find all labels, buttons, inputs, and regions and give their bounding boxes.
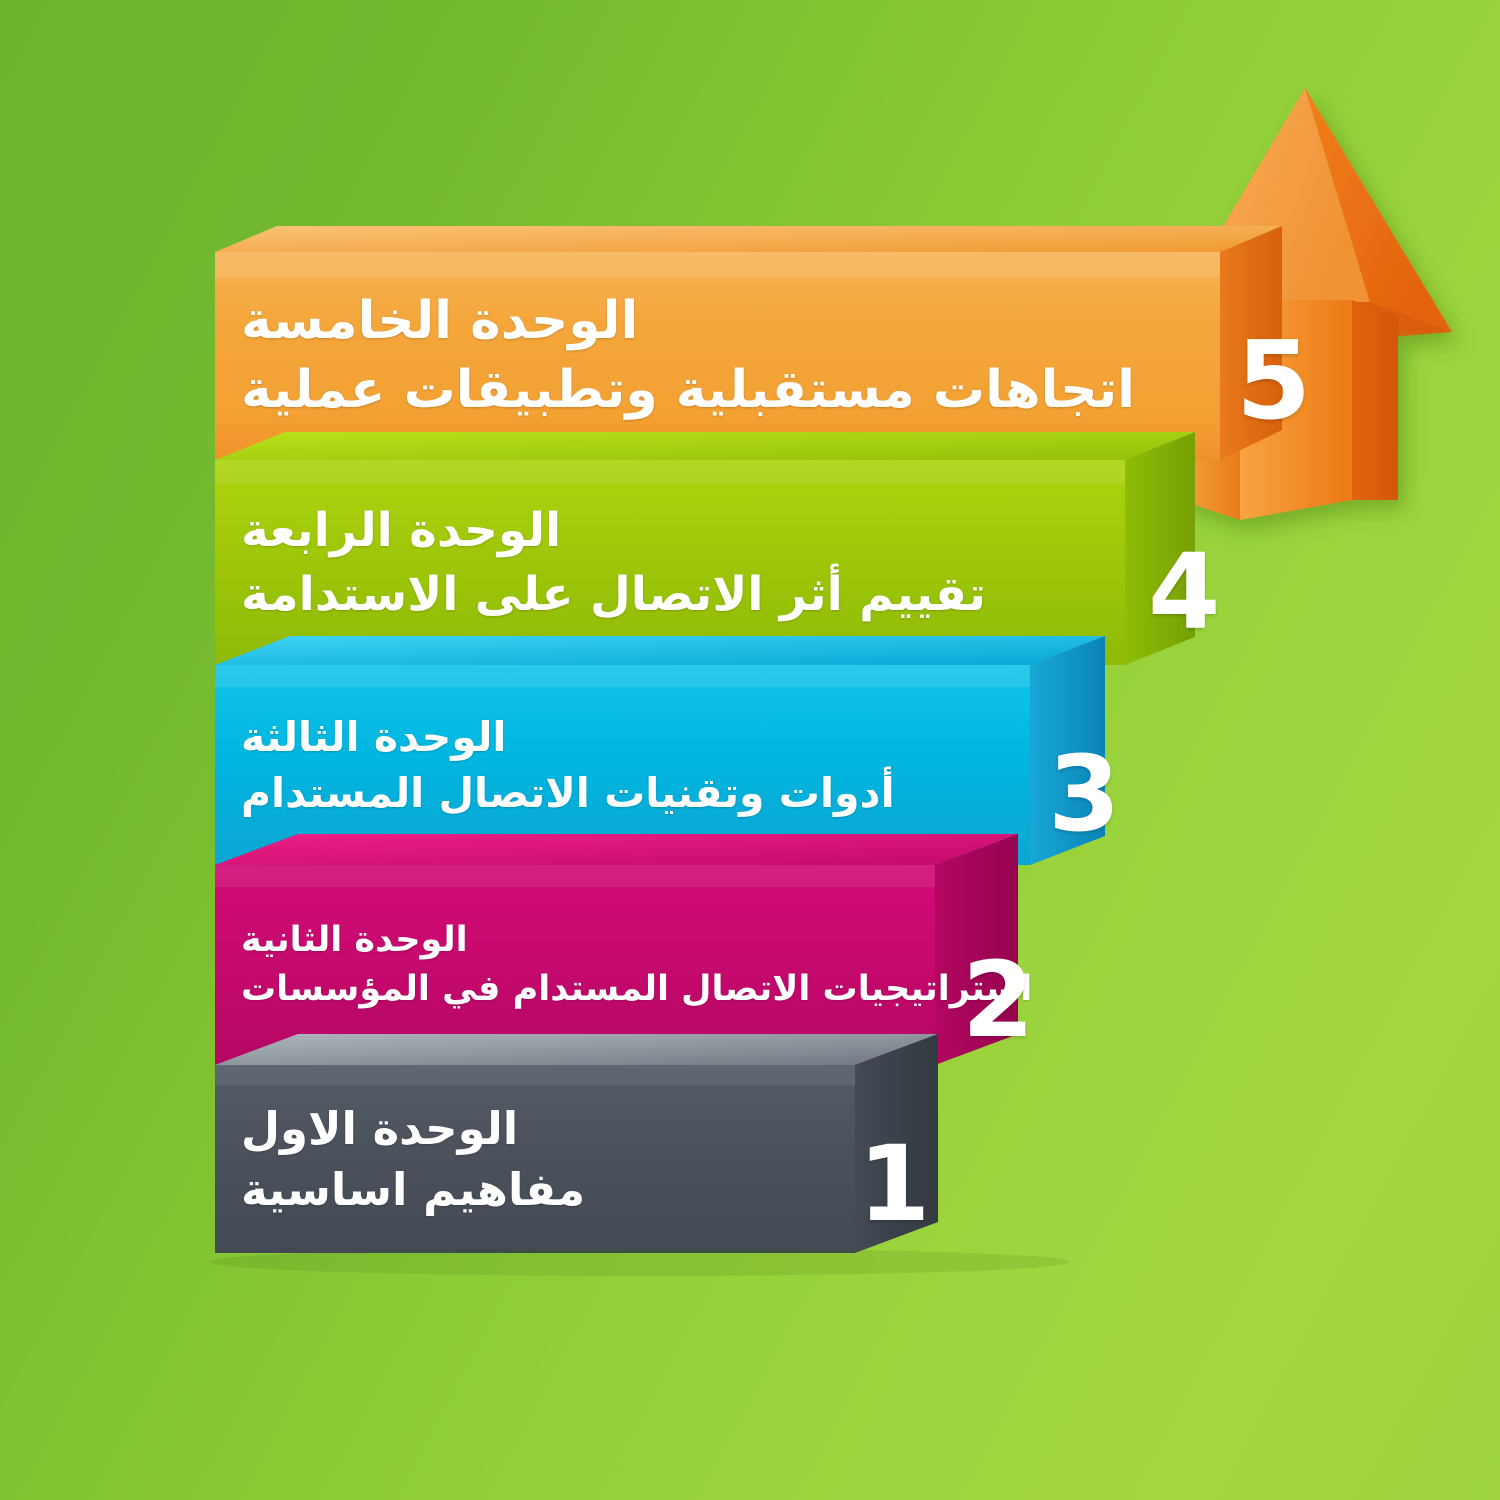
- step-label-2[interactable]: الوحدة الثانية استراتيجيات الاتصال المست…: [215, 865, 935, 1065]
- step-subtitle-3: أدوات وتقنيات الاتصال المستدام: [241, 769, 895, 817]
- step-title-2: الوحدة الثانية: [241, 920, 468, 961]
- step-subtitle-5: اتجاهات مستقبلية وتطبيقات عملية: [241, 360, 1135, 421]
- step-label-1[interactable]: الوحدة الاول مفاهيم اساسية: [215, 1065, 855, 1253]
- step-number-3: 3: [1048, 742, 1120, 846]
- step-label-4[interactable]: الوحدة الرابعة تقييم أثر الاتصال على الا…: [215, 460, 1125, 665]
- step-title-4: الوحدة الرابعة: [241, 503, 561, 558]
- step-number-2: 2: [962, 948, 1034, 1052]
- step-number-5: 5: [1236, 328, 1311, 436]
- step-title-3: الوحدة الثالثة: [241, 713, 506, 761]
- step-subtitle-1: مفاهيم اساسية: [241, 1163, 585, 1216]
- step-number-4: 4: [1148, 540, 1220, 644]
- step-title-1: الوحدة الاول: [241, 1102, 518, 1155]
- step-subtitle-4: تقييم أثر الاتصال على الاستدامة: [241, 567, 986, 622]
- step-label-5[interactable]: الوحدة الخامسة اتجاهات مستقبلية وتطبيقات…: [215, 252, 1220, 460]
- step-title-5: الوحدة الخامسة: [241, 291, 638, 352]
- infographic-canvas: الوحدة الخامسة اتجاهات مستقبلية وتطبيقات…: [0, 0, 1500, 1500]
- step-label-3[interactable]: الوحدة الثالثة أدوات وتقنيات الاتصال الم…: [215, 665, 1030, 865]
- step-subtitle-2: استراتيجيات الاتصال المستدام في المؤسسات: [241, 969, 1032, 1010]
- step-number-1: 1: [858, 1132, 930, 1236]
